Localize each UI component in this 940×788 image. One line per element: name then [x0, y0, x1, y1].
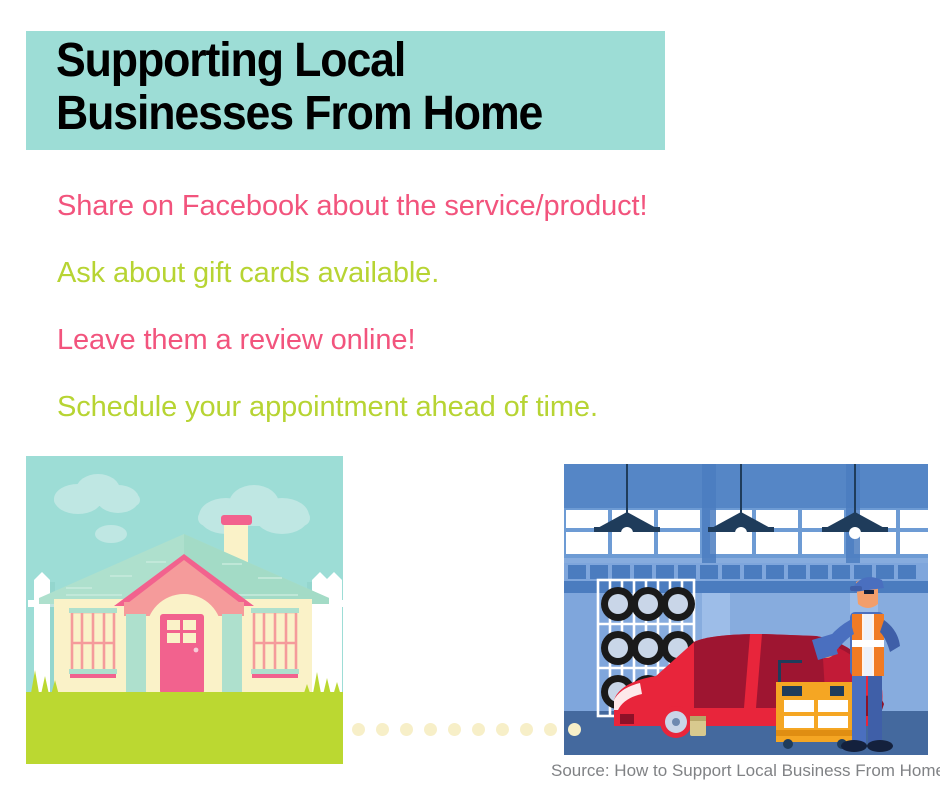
- window-left: [69, 608, 117, 678]
- divider-dot: [520, 723, 533, 736]
- divider-dot: [448, 723, 461, 736]
- divider-dot: [376, 723, 389, 736]
- tip-item-1: Share on Facebook about the service/prod…: [57, 192, 857, 221]
- divider-dot: [400, 723, 413, 736]
- source-caption: Source: How to Support Local Business Fr…: [551, 761, 929, 781]
- divider-dot: [496, 723, 509, 736]
- divider-dot: [568, 723, 581, 736]
- window-right: [251, 608, 299, 678]
- divider-dot: [544, 723, 557, 736]
- tips-list: Share on Facebook about the service/prod…: [57, 192, 857, 460]
- house-illustration: [26, 456, 343, 764]
- divider-dot: [352, 723, 365, 736]
- page-title: Supporting Local Businesses From Home: [56, 34, 633, 140]
- auto-repair-shop-illustration: [564, 464, 928, 755]
- dotted-divider: [352, 722, 572, 736]
- tip-item-3: Leave them a review online!: [57, 326, 857, 355]
- tip-item-4: Schedule your appointment ahead of time.: [57, 393, 857, 422]
- tip-item-2: Ask about gift cards available.: [57, 259, 857, 288]
- divider-dot: [424, 723, 437, 736]
- slide-canvas: Supporting Local Businesses From Home Sh…: [0, 0, 940, 788]
- divider-dot: [472, 723, 485, 736]
